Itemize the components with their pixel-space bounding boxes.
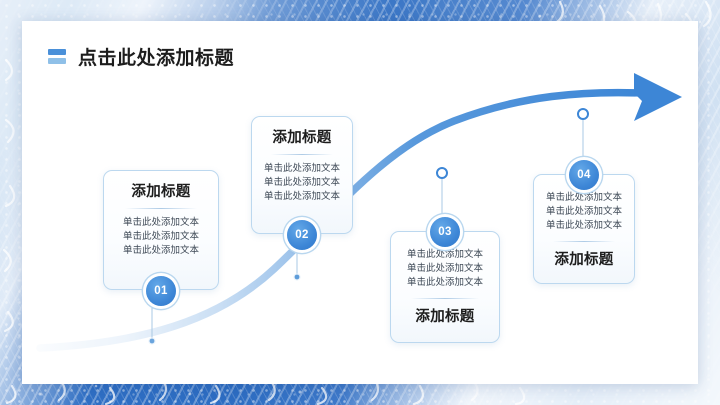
card-01-body: 单击此处添加文本 单击此处添加文本 单击此处添加文本 — [123, 216, 199, 258]
card-03[interactable]: 单击此处添加文本 单击此处添加文本 单击此处添加文本 添加标题 — [390, 231, 500, 343]
card-04-line-3: 单击此处添加文本 — [546, 219, 622, 233]
card-01-badge[interactable]: 01 — [146, 276, 176, 306]
card-01-line-2: 单击此处添加文本 — [123, 230, 199, 244]
card-03-divider — [411, 298, 479, 299]
card-04-body: 单击此处添加文本 单击此处添加文本 单击此处添加文本 — [546, 191, 622, 233]
card-03-line-3: 单击此处添加文本 — [407, 276, 483, 290]
card-04-title: 添加标题 — [554, 248, 613, 269]
content-panel: 点击此处添加标题 — [22, 21, 698, 384]
card-01-line-3: 单击此处添加文本 — [123, 244, 199, 258]
card-04-divider — [553, 241, 615, 242]
card-02-line-1: 单击此处添加文本 — [264, 162, 340, 176]
card-02[interactable]: 添加标题 单击此处添加文本 单击此处添加文本 单击此处添加文本 — [251, 116, 353, 234]
card-01-divider — [125, 208, 198, 209]
card-01-line-1: 单击此处添加文本 — [123, 216, 199, 230]
card-02-line-2: 单击此处添加文本 — [264, 176, 340, 190]
card-02-badge[interactable]: 02 — [287, 220, 317, 250]
card-01[interactable]: 添加标题 单击此处添加文本 单击此处添加文本 单击此处添加文本 — [103, 170, 219, 290]
arrow-head — [634, 73, 682, 121]
card-03-title: 添加标题 — [415, 305, 474, 326]
process-diagram: 添加标题 单击此处添加文本 单击此处添加文本 单击此处添加文本 01 添加标题 … — [22, 21, 698, 384]
card-04-line-2: 单击此处添加文本 — [546, 205, 622, 219]
card-02-title: 添加标题 — [272, 126, 331, 147]
card-04-line-1: 单击此处添加文本 — [546, 191, 622, 205]
card-03-line-1: 单击此处添加文本 — [407, 248, 483, 262]
card-03-body: 单击此处添加文本 单击此处添加文本 单击此处添加文本 — [407, 248, 483, 290]
card-04[interactable]: 单击此处添加文本 单击此处添加文本 单击此处添加文本 添加标题 — [533, 174, 635, 284]
slide-canvas: 点击此处添加标题 — [0, 0, 720, 405]
card-02-divider — [271, 154, 333, 155]
card-03-badge[interactable]: 03 — [430, 217, 460, 247]
card-01-title: 添加标题 — [131, 180, 190, 201]
card-03-line-2: 单击此处添加文本 — [407, 262, 483, 276]
card-04-badge[interactable]: 04 — [569, 160, 599, 190]
card-02-body: 单击此处添加文本 单击此处添加文本 单击此处添加文本 — [264, 162, 340, 204]
card-02-line-3: 单击此处添加文本 — [264, 190, 340, 204]
